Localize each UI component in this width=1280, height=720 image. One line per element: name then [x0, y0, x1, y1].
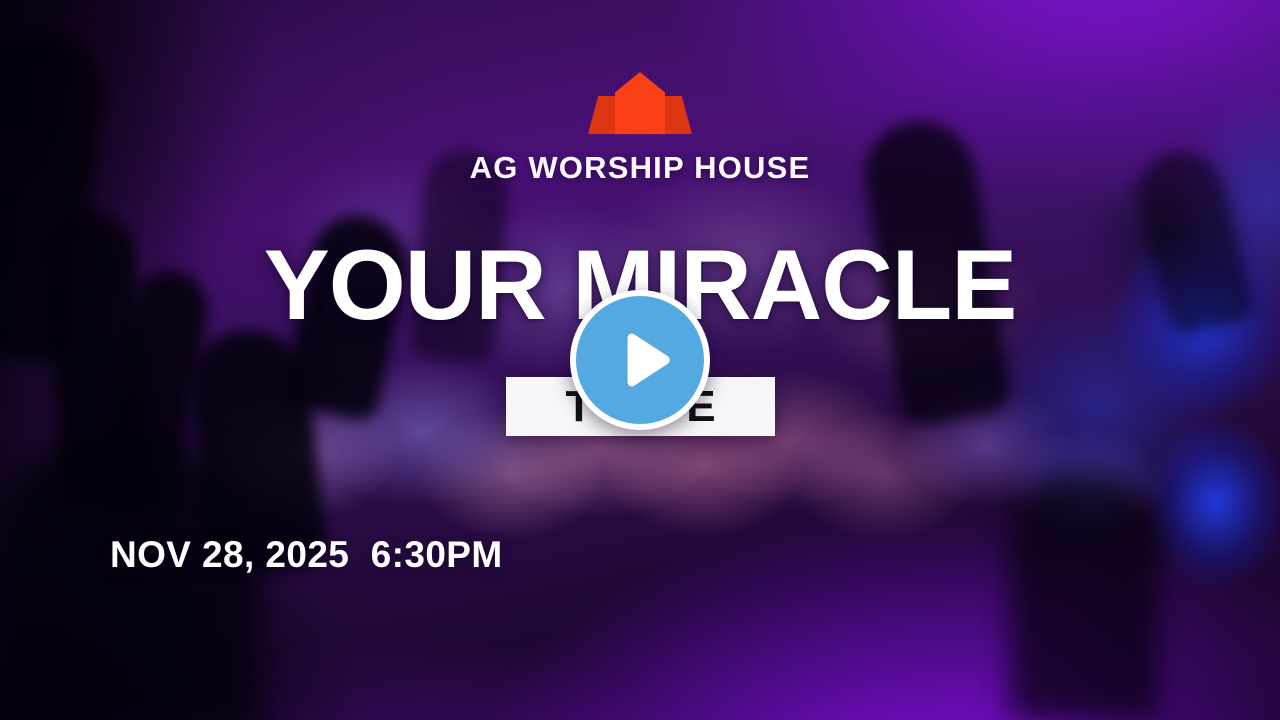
- logo-wing-right: [665, 96, 692, 134]
- church-house-icon: [584, 72, 696, 134]
- play-icon: [614, 329, 676, 391]
- logo-center-tower: [615, 72, 665, 134]
- video-thumbnail[interactable]: AG WORSHIP HOUSE YOUR MIRACLE TIME NOV 2…: [0, 0, 1280, 720]
- brand-name: AG WORSHIP HOUSE: [0, 150, 1280, 186]
- logo-wing-left: [588, 96, 615, 134]
- event-datetime: NOV 28, 2025 6:30PM: [110, 534, 503, 576]
- play-button[interactable]: [570, 290, 710, 430]
- logo-container: [0, 72, 1280, 134]
- thumbnail-content: AG WORSHIP HOUSE YOUR MIRACLE TIME NOV 2…: [0, 0, 1280, 720]
